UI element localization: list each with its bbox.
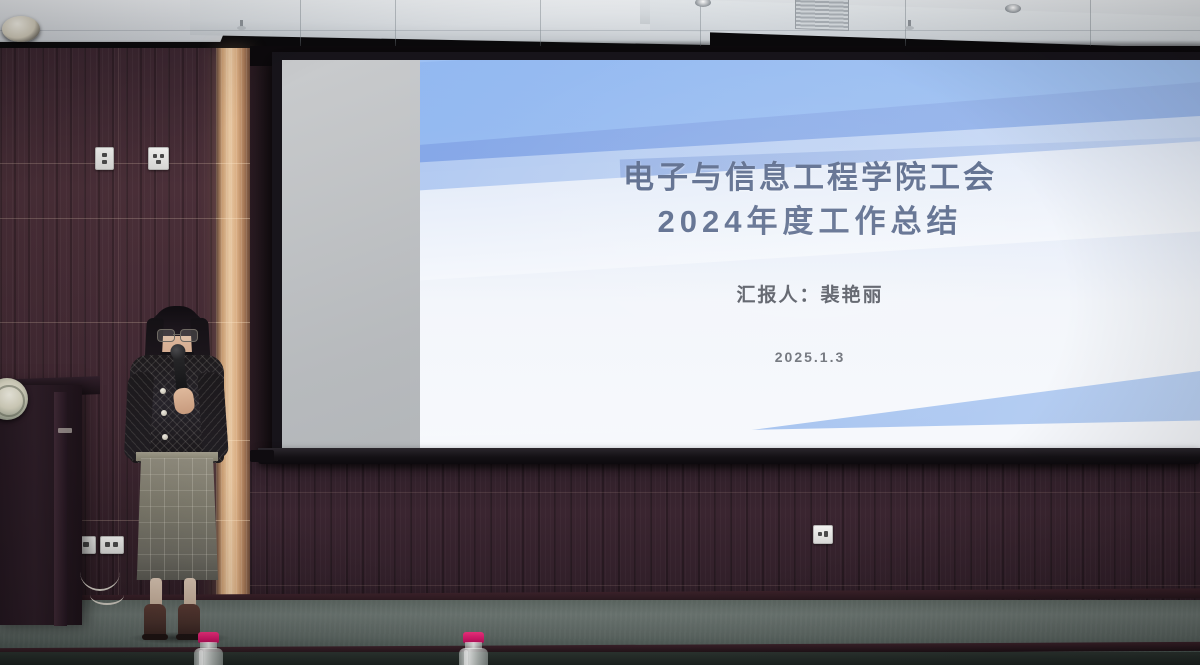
bottle-body <box>194 648 223 665</box>
water-bottle[interactable] <box>455 632 491 665</box>
projection-screen-surface: 电子与信息工程学院工会 2024年度工作总结 汇报人：裴艳丽 2025.1.3 <box>282 60 1200 450</box>
wall-panel-seam <box>0 218 216 219</box>
sprinkler-head-icon <box>905 20 914 32</box>
slide-presenter: 汇报人：裴艳丽 <box>736 280 883 307</box>
person-skirt <box>136 458 218 580</box>
wall-socket-plate[interactable] <box>813 525 833 544</box>
jacket-button <box>162 434 168 440</box>
slide-title: 电子与信息工程学院工会 2024年度工作总结 <box>623 156 997 244</box>
presenter-person <box>112 300 242 640</box>
slide-date: 2025.1.3 <box>775 349 846 365</box>
sprinkler-head-icon <box>237 20 246 32</box>
wall-panel-seam <box>250 492 1200 493</box>
jacket-button <box>160 388 166 394</box>
slide-title-line1: 电子与信息工程学院工会 <box>623 160 997 195</box>
light-column-seam <box>216 218 250 219</box>
projection-screen-bottom-bar <box>258 448 1200 464</box>
presentation-room-photo: 电子与信息工程学院工会 2024年度工作总结 汇报人：裴艳丽 2025.1.3 <box>0 0 1200 665</box>
light-column-seam <box>216 163 250 164</box>
person-arm-left <box>124 371 155 460</box>
ceiling-grid-line-horizontal <box>0 30 1200 31</box>
person-glasses <box>157 329 198 340</box>
slide-title-line2: 2024年度工作总结 <box>623 200 997 244</box>
jacket-button <box>161 410 167 416</box>
wall-panel-seam <box>250 585 1200 586</box>
person-boot-left <box>144 604 166 638</box>
ceiling-downlight <box>1005 4 1021 13</box>
ceiling-speaker <box>2 16 40 42</box>
person-arm-right <box>197 371 229 459</box>
air-vent-grille <box>795 0 849 31</box>
bottle-body <box>459 648 488 665</box>
projected-slide: 电子与信息工程学院工会 2024年度工作总结 汇报人：裴艳丽 2025.1.3 <box>420 60 1200 450</box>
slide-text-block: 电子与信息工程学院工会 2024年度工作总结 汇报人：裴艳丽 2025.1.3 <box>420 60 1200 450</box>
stage-front-edge <box>0 652 1200 665</box>
water-bottle[interactable] <box>190 632 226 665</box>
podium-nameplate <box>58 428 72 433</box>
wall-socket-plate[interactable] <box>148 147 169 170</box>
wall-socket-plate[interactable] <box>95 147 114 170</box>
podium[interactable] <box>0 385 82 625</box>
ceiling-panel-middle <box>190 0 710 45</box>
